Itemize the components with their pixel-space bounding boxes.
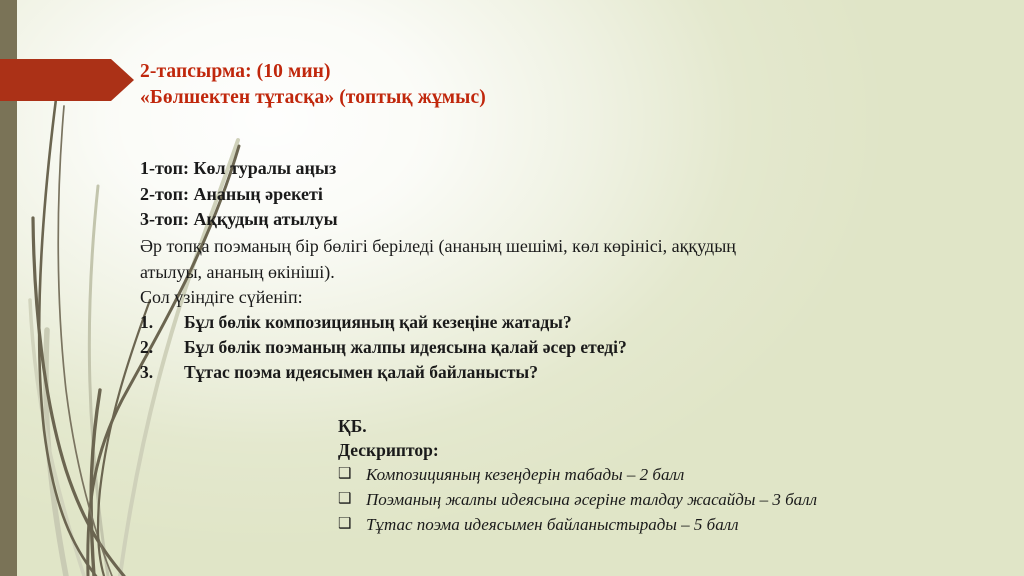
group-item-2: 2-топ: Ананың әрекеті <box>140 182 338 208</box>
red-arrow-banner <box>0 59 134 101</box>
assessment-block: ҚБ. Дескриптор: ❑ Композицияның кезеңдер… <box>338 414 958 537</box>
question-number: 1. <box>140 310 184 335</box>
descriptor-text: Композицияның кезеңдерін табады – 2 балл <box>366 462 958 487</box>
slide-heading: 2-тапсырма: (10 мин) «Бөлшектен тұтасқа»… <box>140 59 486 111</box>
question-number: 2. <box>140 335 184 360</box>
questions-list: 1. Бұл бөлік композицияның қай кезеңіне … <box>140 310 840 385</box>
instructions-paragraph: Әр топқа поэманың бір бөлігі беріледі (а… <box>140 234 880 311</box>
group-item-1: 1-топ: Көл туралы аңыз <box>140 156 338 182</box>
checkbox-square-icon: ❑ <box>338 512 366 537</box>
question-row: 1. Бұл бөлік композицияның қай кезеңіне … <box>140 310 840 335</box>
question-row: 3. Тұтас поэма идеясымен қалай байланыст… <box>140 360 840 385</box>
group-assignments-list: 1-топ: Көл туралы аңыз 2-топ: Ананың әре… <box>140 156 338 233</box>
paragraph-line-2: атылуы, ананың өкініші). <box>140 260 880 286</box>
descriptor-text: Поэманың жалпы идеясына әсеріне талдау ж… <box>366 487 958 512</box>
descriptor-row: ❑ Поэманың жалпы идеясына әсеріне талдау… <box>338 487 958 512</box>
question-row: 2. Бұл бөлік поэманың жалпы идеясына қал… <box>140 335 840 360</box>
question-text: Бұл бөлік композицияның қай кезеңіне жат… <box>184 310 840 335</box>
descriptor-text: Тұтас поэма идеясымен байланыстырады – 5… <box>366 512 958 537</box>
heading-line-2: «Бөлшектен тұтасқа» (топтық жұмыс) <box>140 85 486 111</box>
slide-content: 2-тапсырма: (10 мин) «Бөлшектен тұтасқа»… <box>140 0 1010 576</box>
question-number: 3. <box>140 360 184 385</box>
question-text: Бұл бөлік поэманың жалпы идеясына қалай … <box>184 335 840 360</box>
checkbox-square-icon: ❑ <box>338 462 366 487</box>
checkbox-square-icon: ❑ <box>338 487 366 512</box>
descriptor-row: ❑ Композицияның кезеңдерін табады – 2 ба… <box>338 462 958 487</box>
descriptor-row: ❑ Тұтас поэма идеясымен байланыстырады –… <box>338 512 958 537</box>
assessment-subtitle: Дескриптор: <box>338 438 958 462</box>
heading-line-1: 2-тапсырма: (10 мин) <box>140 59 486 85</box>
question-text: Тұтас поэма идеясымен қалай байланысты? <box>184 360 840 385</box>
paragraph-line-3: Сол үзіндіге сүйеніп: <box>140 285 880 311</box>
assessment-title: ҚБ. <box>338 414 958 438</box>
paragraph-line-1: Әр топқа поэманың бір бөлігі беріледі (а… <box>140 234 880 260</box>
slide-canvas: 2-тапсырма: (10 мин) «Бөлшектен тұтасқа»… <box>0 0 1024 576</box>
group-item-3: 3-топ: Аққудың атылуы <box>140 207 338 233</box>
